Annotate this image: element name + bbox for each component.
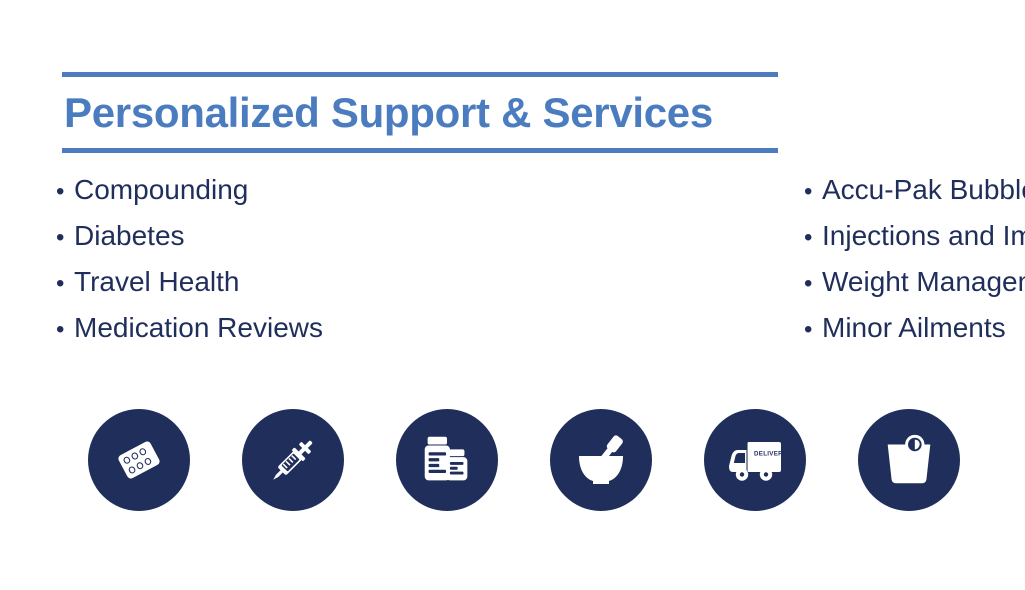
list-item: • Accu-Pak Bubble Packaging <box>804 176 1025 222</box>
weight-scale-icon <box>878 429 940 491</box>
title-block: Personalized Support & Services <box>62 72 778 153</box>
service-column-right: • Accu-Pak Bubble Packaging • Injections… <box>267 176 1025 360</box>
blister-pack-icon <box>107 428 171 492</box>
bullet-icon: • <box>804 226 822 250</box>
bullet-icon: • <box>56 318 74 342</box>
icon-row: DELIVERY <box>88 409 952 511</box>
list-item: • Minor Ailments <box>804 314 1025 360</box>
bullet-icon: • <box>56 226 74 250</box>
service-label: Injections and Immunizations <box>822 222 1025 250</box>
bullet-icon: • <box>804 272 822 296</box>
bullet-icon: • <box>804 180 822 204</box>
icon-badge-syringe <box>242 409 344 511</box>
icon-badge-delivery-truck: DELIVERY <box>704 409 806 511</box>
list-item: • Injections and Immunizations <box>804 222 1025 268</box>
delivery-truck-icon: DELIVERY <box>721 426 789 494</box>
title-rule-bottom <box>62 148 778 153</box>
icon-badge-pill-bottles <box>396 409 498 511</box>
icon-badge-mortar-and-pestle <box>550 409 652 511</box>
service-label: Compounding <box>74 176 248 204</box>
mortar-and-pestle-icon <box>569 428 633 492</box>
bullet-icon: • <box>56 180 74 204</box>
service-label: Minor Ailments <box>822 314 1006 342</box>
page-title: Personalized Support & Services <box>62 77 778 148</box>
bullet-icon: • <box>56 272 74 296</box>
icon-badge-blister-pack <box>88 409 190 511</box>
pill-bottles-icon <box>416 429 478 491</box>
icon-badge-weight-scale <box>858 409 960 511</box>
service-label: Travel Health <box>74 268 239 296</box>
service-label: Weight Management <box>822 268 1025 296</box>
syringe-icon <box>261 428 325 492</box>
list-item: • Weight Management <box>804 268 1025 314</box>
service-label: Diabetes <box>74 222 185 250</box>
services-lists: • Compounding • Diabetes • Travel Health… <box>0 176 1025 360</box>
delivery-truck-label: DELIVERY <box>754 451 788 458</box>
service-label: Accu-Pak Bubble Packaging <box>822 176 1025 204</box>
bullet-icon: • <box>804 318 822 342</box>
